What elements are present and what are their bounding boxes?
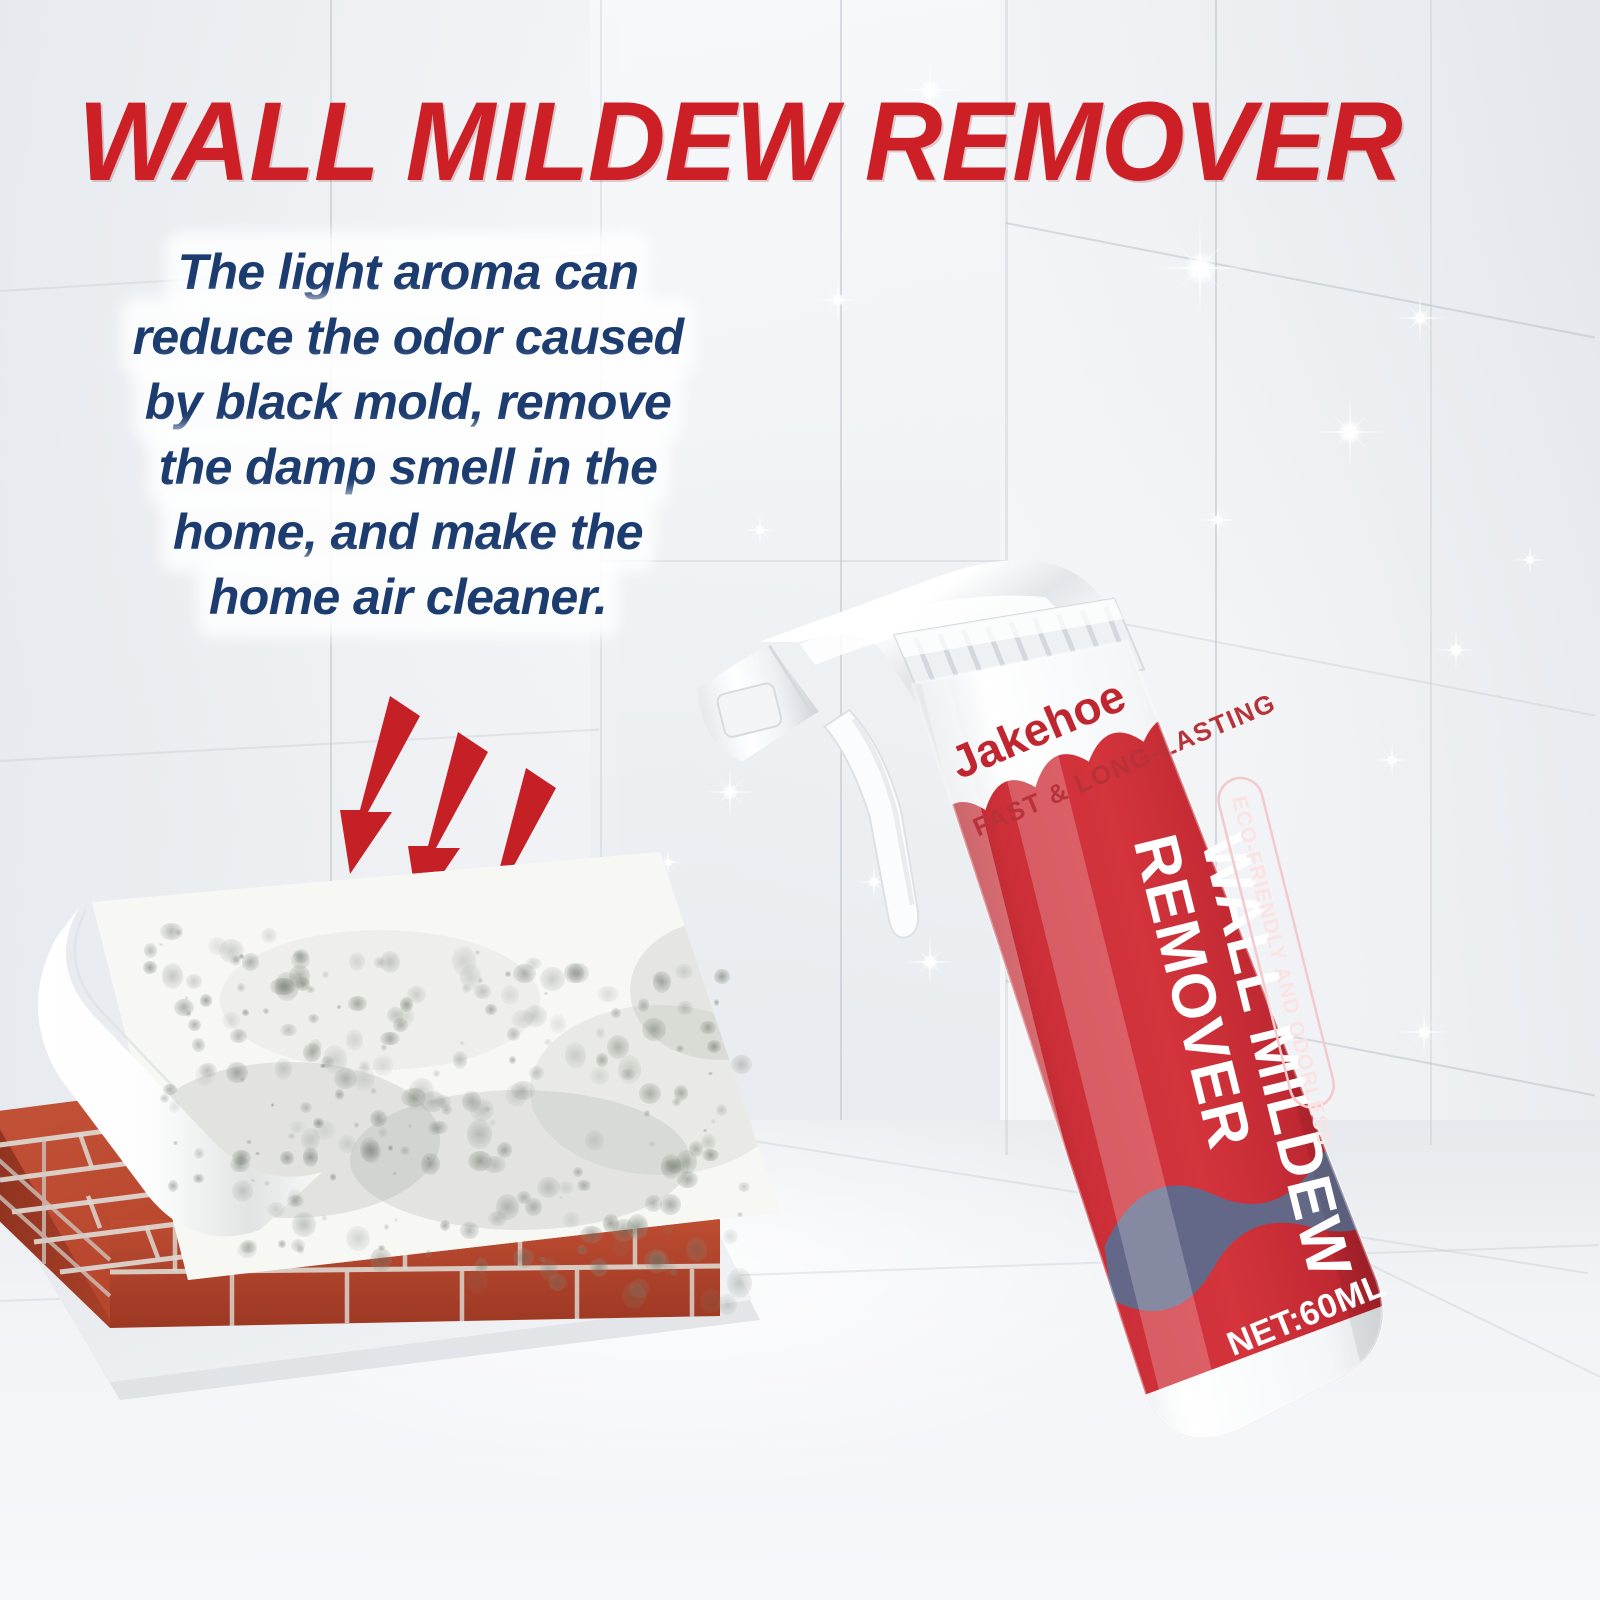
description-line: home air cleaner. <box>78 565 738 630</box>
description-line: by black mold, remove <box>78 370 738 435</box>
description-line: home, and make the <box>78 500 738 565</box>
description-text: The light aroma canreduce the odor cause… <box>78 240 738 630</box>
spray-bottle-icon: Jakehoe FAST & LONG-LASTING WALL MILDEW … <box>735 400 1455 1520</box>
description-line: the damp smell in the <box>78 435 738 500</box>
description-line: reduce the odor caused <box>78 305 738 370</box>
moldy-brick-wall-icon <box>0 760 780 1420</box>
description-line: The light aroma can <box>78 240 738 305</box>
page-title: WALL MILDEW REMOVER <box>78 86 1480 198</box>
poster-canvas: WALL MILDEW REMOVER The light aroma canr… <box>0 0 1600 1600</box>
